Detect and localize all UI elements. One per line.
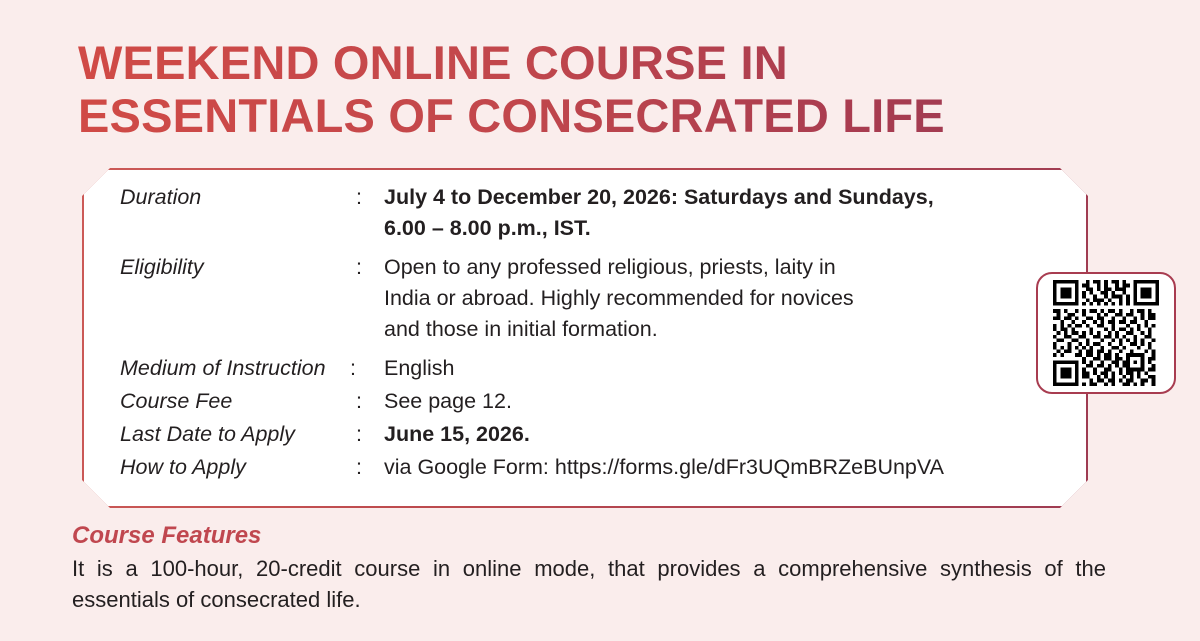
detail-row-how-to-apply: How to Apply : via Google Form: https://… (120, 452, 1050, 483)
detail-row-course-fee: Course Fee : See page 12. (120, 386, 1050, 417)
detail-row-medium-of-instruction: Medium of Instruction : English (120, 353, 1050, 384)
detail-value-eligibility-line-3: and those in initial formation. (384, 314, 1050, 345)
detail-label-duration: Duration (120, 182, 350, 213)
course-features-heading: Course Features (72, 521, 1106, 551)
detail-separator: : (350, 353, 384, 384)
detail-value-eligibility: Open to any professed religious, priests… (384, 252, 1050, 345)
detail-value-duration: July 4 to December 20, 2026: Saturdays a… (384, 182, 1050, 244)
page-title-line-2: ESSENTIALS OF CONSECRATED LIFE (78, 89, 1088, 142)
detail-separator: : (350, 182, 384, 213)
detail-value-eligibility-line-1: Open to any professed religious, priests… (384, 252, 1050, 283)
detail-separator: : (350, 452, 384, 483)
detail-label-medium-of-instruction: Medium of Instruction (120, 353, 350, 384)
flyer-page: WEEKEND ONLINE COURSE IN ESSENTIALS OF C… (0, 0, 1200, 641)
qr-code-icon (1052, 280, 1160, 386)
detail-label-eligibility: Eligibility (120, 252, 350, 283)
course-features-body: It is a 100-hour, 20-credit course in on… (72, 553, 1106, 615)
detail-separator: : (350, 252, 384, 283)
detail-value-last-date-to-apply: June 15, 2026. (384, 419, 1050, 450)
detail-value-how-to-apply[interactable]: via Google Form: https://forms.gle/dFr3U… (384, 452, 1050, 483)
page-title: WEEKEND ONLINE COURSE IN ESSENTIALS OF C… (78, 36, 1088, 142)
detail-value-course-fee: See page 12. (384, 386, 1050, 417)
detail-row-duration: Duration : July 4 to December 20, 2026: … (120, 182, 1050, 244)
course-details-card: Duration : July 4 to December 20, 2026: … (82, 168, 1088, 508)
detail-label-how-to-apply: How to Apply (120, 452, 350, 483)
detail-value-duration-line-1: July 4 to December 20, 2026: Saturdays a… (384, 182, 1050, 213)
detail-row-last-date-to-apply: Last Date to Apply : June 15, 2026. (120, 419, 1050, 450)
course-features-section: Course Features It is a 100-hour, 20-cre… (72, 521, 1106, 615)
detail-label-course-fee: Course Fee (120, 386, 350, 417)
detail-row-eligibility: Eligibility : Open to any professed reli… (120, 252, 1050, 345)
details-list: Duration : July 4 to December 20, 2026: … (120, 182, 1050, 485)
detail-separator: : (350, 386, 384, 417)
detail-label-last-date-to-apply: Last Date to Apply (120, 419, 350, 450)
detail-value-medium-of-instruction: English (384, 353, 1050, 384)
detail-value-duration-line-2: 6.00 – 8.00 p.m., IST. (384, 213, 1050, 244)
page-title-line-1: WEEKEND ONLINE COURSE IN (78, 36, 1088, 89)
detail-value-eligibility-line-2: India or abroad. Highly recommended for … (384, 283, 1050, 314)
qr-code-container[interactable] (1036, 272, 1176, 394)
detail-separator: : (350, 419, 384, 450)
